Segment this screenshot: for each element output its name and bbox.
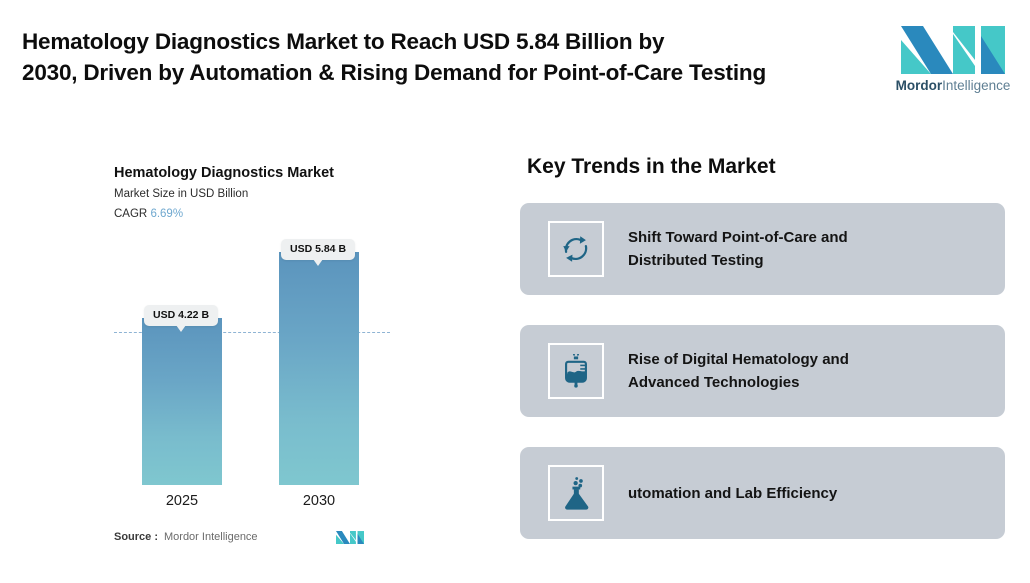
brand-name-light: Intelligence [942, 78, 1010, 93]
brand-wordmark: MordorIntelligence [893, 78, 1013, 94]
source-label: Source : [114, 531, 158, 543]
trend-card-digital-hematology[interactable]: Rise of Digital Hematology and Advanced … [520, 325, 1005, 417]
trend-text-line-2: Distributed Testing [628, 252, 764, 269]
x-axis-tick-2030: 2030 [264, 493, 374, 509]
key-trends-heading: Key Trends in the Market [527, 155, 776, 179]
key-trends-panel: Key Trends in the Market Shift Toward Po… [500, 118, 1030, 583]
trend-card-text: Shift Toward Point-of-Care and Distribut… [628, 203, 988, 295]
flask-bubbles-icon [559, 476, 593, 510]
bar-value-label-2030: USD 5.84 B [281, 239, 355, 260]
trend-card-text: Rise of Digital Hematology and Advanced … [628, 325, 988, 417]
page-title-line-2: 2030, Driven by Automation & Rising Dema… [22, 57, 862, 88]
x-axis-tick-2025: 2025 [127, 493, 237, 509]
trend-icon-box [548, 465, 604, 521]
chart-source: Source : Mordor Intelligence [114, 530, 384, 550]
page-title-line-1: Hematology Diagnostics Market to Reach U… [22, 29, 664, 54]
trend-icon-box [548, 343, 604, 399]
trend-text-line-1: Rise of Digital Hematology and [628, 351, 849, 368]
trend-icon-box [548, 221, 604, 277]
trend-card-automation-lab-efficiency[interactable]: utomation and Lab Efficiency [520, 447, 1005, 539]
iv-blood-bag-icon [559, 354, 593, 388]
bar-value-label-2025: USD 4.22 B [144, 305, 218, 326]
page-header: Hematology Diagnostics Market to Reach U… [0, 0, 1030, 118]
page-title: Hematology Diagnostics Market to Reach U… [22, 26, 862, 88]
source-value: Mordor Intelligence [164, 531, 258, 543]
trend-card-point-of-care[interactable]: Shift Toward Point-of-Care and Distribut… [520, 203, 1005, 295]
trend-text-line-1: Shift Toward Point-of-Care and [628, 229, 848, 246]
chart-panel: Hematology Diagnostics Market Market Siz… [0, 118, 500, 583]
brand-name-bold: Mordor [896, 78, 943, 93]
bar-chart-plot: USD 4.22 B USD 5.84 B 2025 2030 [0, 118, 500, 583]
trend-card-text: utomation and Lab Efficiency [628, 447, 988, 539]
trend-text-line-2: Advanced Technologies [628, 374, 799, 391]
bar-2025 [142, 318, 222, 485]
mordor-intelligence-logo-icon [901, 26, 1005, 74]
bar-2030 [279, 252, 359, 485]
mordor-intelligence-logo-icon-small [336, 530, 364, 545]
brand-logo: MordorIntelligence [893, 26, 1013, 98]
recycle-cycle-arrows-icon [559, 232, 593, 266]
trend-text-line-1: utomation and Lab Efficiency [628, 482, 837, 505]
